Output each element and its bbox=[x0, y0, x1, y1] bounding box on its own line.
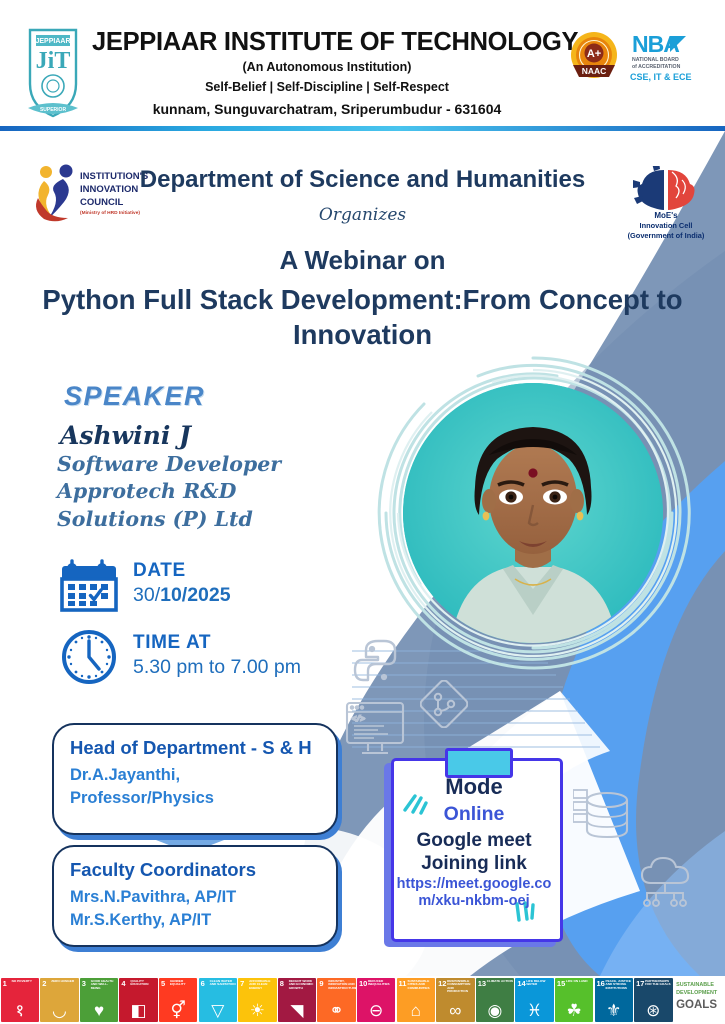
speaker-role-line2: Approtech R&D bbox=[57, 478, 281, 505]
sdg-goal-text: DECENT WORK AND ECONOMIC GROWTH bbox=[289, 980, 315, 990]
sdg-goal-number: 2 bbox=[42, 979, 46, 988]
svg-text:JEPPIAAR: JEPPIAAR bbox=[35, 38, 70, 45]
webinar-poster: JEPPIAAR JiT SUPERIOR JEPPIAAR INSTITUTE… bbox=[0, 0, 725, 1024]
sdg-logo-line1: SUSTAINABLE bbox=[676, 982, 714, 988]
sdg-goal-glyph-icon: ☘ bbox=[555, 1002, 593, 1019]
sdg-goal-number: 13 bbox=[478, 979, 486, 988]
date-value: 30/10/2025 bbox=[133, 583, 231, 608]
sdg-goal-number: 17 bbox=[636, 979, 644, 988]
time-label: TIME AT bbox=[133, 632, 301, 654]
git-branch-icon bbox=[420, 680, 468, 728]
sdg-goal-text: GENDER EQUALITY bbox=[170, 980, 196, 987]
sdg-goal-text: CLIMATE ACTION bbox=[487, 980, 513, 983]
sdg-goal-text: LIFE BELOW WATER bbox=[526, 980, 552, 987]
database-icon bbox=[573, 786, 635, 844]
mode-heading: Mode bbox=[391, 774, 557, 800]
clock-icon bbox=[58, 625, 120, 687]
sdg-goal-text: ZERO HUNGER bbox=[51, 980, 77, 983]
calendar-icon bbox=[58, 553, 120, 615]
sdg-goal-9: 9INDUSTRY, INNOVATION AND INFRASTRUCTURE… bbox=[317, 978, 355, 1022]
sdg-logo: SUSTAINABLE DEVELOPMENT GOALS bbox=[674, 978, 724, 1022]
hod-title: Head of Department - S & H bbox=[70, 737, 336, 759]
sdg-goal-13: 13CLIMATE ACTION◉ bbox=[476, 978, 514, 1022]
webinar-on-label: A Webinar on bbox=[0, 245, 725, 276]
sdg-goal-3: 3GOOD HEALTH AND WELL-BEING♥ bbox=[80, 978, 118, 1022]
webinar-topic-line1: Python Full Stack Development:From Conce… bbox=[42, 284, 682, 315]
sdg-goal-11: 11SUSTAINABLE CITIES AND COMMUNITIES⌂ bbox=[397, 978, 435, 1022]
sdg-goal-glyph-icon: ◉ bbox=[476, 1002, 514, 1019]
sdg-goal-text: CLEAN WATER AND SANITATION bbox=[210, 980, 236, 987]
python-logo-icon bbox=[352, 637, 404, 689]
sdg-goal-8: 8DECENT WORK AND ECONOMIC GROWTH◥ bbox=[278, 978, 316, 1022]
sdg-goal-7: 7AFFORDABLE AND CLEAN ENERGY☀ bbox=[238, 978, 276, 1022]
sdg-goal-number: 1 bbox=[3, 979, 7, 988]
svg-text:SUPERIOR: SUPERIOR bbox=[40, 107, 67, 113]
sdg-goal-text: PEACE, JUSTICE AND STRONG INSTITUTIONS bbox=[606, 980, 632, 990]
time-row: TIME AT 5.30 pm to 7.00 pm bbox=[58, 625, 301, 687]
joining-link-label-line1: Google meet bbox=[391, 830, 557, 853]
sdg-goal-number: 8 bbox=[280, 979, 284, 988]
sdg-goal-number: 5 bbox=[161, 979, 165, 988]
schedule-block: DATE 30/10/2025 TIME A bbox=[58, 553, 301, 697]
svg-text:(Government of India): (Government of India) bbox=[628, 231, 705, 240]
date-label: DATE bbox=[133, 560, 231, 582]
institute-motto: Self-Belief | Self-Discipline | Self-Res… bbox=[92, 80, 562, 94]
faculty-card: Faculty Coordinators Mrs.N.Pavithra, AP/… bbox=[52, 845, 338, 947]
date-day: 30/ bbox=[133, 584, 160, 606]
sdg-goal-glyph-icon: ⚭ bbox=[317, 1002, 355, 1019]
sdg-goal-glyph-icon: ♥ bbox=[80, 1002, 118, 1019]
sdg-goal-glyph-icon: ⊛ bbox=[634, 1002, 672, 1019]
sdg-logo-line3: GOALS bbox=[676, 999, 717, 1011]
speaker-role-line3: Solutions (P) Ltd bbox=[57, 506, 281, 533]
sdg-goal-text: INDUSTRY, INNOVATION AND INFRASTRUCTURE bbox=[328, 980, 354, 990]
sdg-goal-10: 10REDUCED INEQUALITIES⊖ bbox=[357, 978, 395, 1022]
date-row: DATE 30/10/2025 bbox=[58, 553, 301, 615]
speaker-affiliation: Software Developer Approtech R&D Solutio… bbox=[57, 451, 281, 533]
institute-address: kunnam, Sunguvarchatram, Sriperumbudur -… bbox=[92, 101, 562, 117]
sdg-goal-16: 16PEACE, JUSTICE AND STRONG INSTITUTIONS… bbox=[595, 978, 633, 1022]
sdg-goal-number: 7 bbox=[240, 979, 244, 988]
poster-header: JEPPIAAR JiT SUPERIOR JEPPIAAR INSTITUTE… bbox=[0, 0, 725, 128]
sdg-goal-number: 16 bbox=[597, 979, 605, 988]
svg-text:</>: </> bbox=[352, 716, 365, 724]
institute-autonomous: (An Autonomous Institution) bbox=[92, 60, 562, 74]
time-value: 5.30 pm to 7.00 pm bbox=[133, 655, 301, 680]
sdg-goal-glyph-icon: ☀ bbox=[238, 1002, 276, 1019]
sdg-goal-number: 10 bbox=[359, 979, 367, 988]
sdg-goal-number: 9 bbox=[319, 979, 323, 988]
hod-designation: Professor/Physics bbox=[70, 788, 336, 809]
speaker-photo bbox=[403, 383, 663, 643]
svg-text:of ACCREDITATION: of ACCREDITATION bbox=[632, 64, 681, 70]
joining-link-label-line2: Joining link bbox=[391, 853, 557, 876]
speaker-role-line1: Software Developer bbox=[57, 451, 281, 478]
faculty-title: Faculty Coordinators bbox=[70, 859, 336, 881]
faculty-coordinator-2: Mr.S.Kerthy, AP/IT bbox=[70, 910, 336, 931]
sdg-goal-text: SUSTAINABLE CITIES AND COMMUNITIES bbox=[408, 980, 434, 990]
sdg-goal-text: LIFE ON LAND bbox=[566, 980, 592, 983]
sdg-goal-12: 12RESPONSIBLE CONSUMPTION AND PRODUCTION… bbox=[436, 978, 474, 1022]
sdg-goal-glyph-icon: ⊖ bbox=[357, 1002, 395, 1019]
speaker-portrait bbox=[372, 352, 694, 674]
sdg-goal-glyph-icon: ▽ bbox=[199, 1002, 237, 1019]
svg-text:A+: A+ bbox=[587, 48, 601, 60]
sdg-goal-number: 14 bbox=[517, 979, 525, 988]
sdg-goal-number: 3 bbox=[82, 979, 86, 988]
sdg-goal-15: 15LIFE ON LAND☘ bbox=[555, 978, 593, 1022]
svg-text:CSE, IT & ECE: CSE, IT & ECE bbox=[630, 72, 692, 82]
sdg-goal-text: AFFORDABLE AND CLEAN ENERGY bbox=[249, 980, 275, 990]
sdg-goal-glyph-icon: ⌂ bbox=[397, 1002, 435, 1019]
mode-clipboard: Mode Online Google meet Joining link htt… bbox=[387, 748, 563, 938]
sdg-goal-number: 12 bbox=[438, 979, 446, 988]
sdg-goal-text: REDUCED INEQUALITIES bbox=[368, 980, 394, 987]
sdg-goal-4: 4QUALITY EDUCATION◧ bbox=[119, 978, 157, 1022]
sdg-goal-glyph-icon: ◥ bbox=[278, 1002, 316, 1019]
sdg-goal-text: GOOD HEALTH AND WELL-BEING bbox=[91, 980, 117, 990]
mode-value: Online bbox=[391, 803, 557, 826]
date-rest: 10/2025 bbox=[160, 584, 231, 606]
sdg-goal-glyph-icon: ◧ bbox=[119, 1002, 157, 1019]
speaker-name: Ashwini J bbox=[60, 421, 191, 450]
department-title: Department of Science and Humanities bbox=[0, 166, 725, 194]
sdg-goal-number: 6 bbox=[201, 979, 205, 988]
webinar-topic: Python Full Stack Development:From Conce… bbox=[22, 282, 703, 352]
sdg-goal-6: 6CLEAN WATER AND SANITATION▽ bbox=[199, 978, 237, 1022]
sdg-goal-text: PARTNERSHIPS FOR THE GOALS bbox=[645, 980, 671, 987]
sdg-goal-glyph-icon: ∞ bbox=[436, 1002, 474, 1019]
svg-text:NAAC: NAAC bbox=[582, 66, 607, 76]
sdg-goal-14: 14LIFE BELOW WATER♓ bbox=[515, 978, 553, 1022]
naac-badge-icon: A+ NAAC bbox=[568, 31, 620, 83]
sdg-logo-line2: DEVELOPMENT bbox=[676, 990, 717, 996]
nba-logo-icon: NBA NATIONAL BOARD of ACCREDITATION CSE,… bbox=[630, 30, 708, 86]
joining-link-label: Google meet Joining link bbox=[391, 830, 557, 876]
svg-text:NATIONAL BOARD: NATIONAL BOARD bbox=[632, 57, 679, 63]
google-meet-link[interactable]: https://meet.google.com/xku-nkbm-oej bbox=[395, 876, 553, 910]
sdg-goal-2: 2ZERO HUNGER◡ bbox=[40, 978, 78, 1022]
sdg-goal-number: 15 bbox=[557, 979, 565, 988]
sdg-goal-1: 1NO POVERTY१ bbox=[1, 978, 39, 1022]
cloud-computing-icon bbox=[635, 853, 697, 909]
institute-name: JEPPIAAR INSTITUTE OF TECHNOLOGY bbox=[92, 28, 562, 57]
hod-name: Dr.A.Jayanthi, bbox=[70, 765, 336, 786]
sdg-footer: 1NO POVERTY१2ZERO HUNGER◡3GOOD HEALTH AN… bbox=[0, 976, 725, 1024]
sdg-goal-glyph-icon: ◡ bbox=[40, 1002, 78, 1019]
sdg-goal-17: 17PARTNERSHIPS FOR THE GOALS⊛ bbox=[634, 978, 672, 1022]
sdg-goal-glyph-icon: ♓ bbox=[515, 1002, 553, 1019]
jit-logo-icon: JEPPIAAR JiT SUPERIOR bbox=[22, 22, 84, 122]
svg-text:JiT: JiT bbox=[36, 48, 71, 74]
sdg-goal-glyph-icon: १ bbox=[1, 1002, 39, 1019]
sdg-goal-number: 11 bbox=[399, 979, 407, 988]
sdg-goal-text: QUALITY EDUCATION bbox=[130, 980, 156, 987]
sdg-goal-text: RESPONSIBLE CONSUMPTION AND PRODUCTION bbox=[447, 980, 473, 994]
sdg-goal-number: 4 bbox=[121, 979, 125, 988]
organizes-label: Organizes bbox=[0, 205, 725, 225]
speaker-heading: SPEAKER bbox=[64, 381, 205, 412]
sdg-goal-glyph-icon: ⚥ bbox=[159, 1002, 197, 1019]
faculty-coordinator-1: Mrs.N.Pavithra, AP/IT bbox=[70, 887, 336, 908]
hod-card: Head of Department - S & H Dr.A.Jayanthi… bbox=[52, 723, 338, 835]
sdg-goal-5: 5GENDER EQUALITY⚥ bbox=[159, 978, 197, 1022]
sdg-goal-text: NO POVERTY bbox=[12, 980, 38, 983]
webinar-topic-line2: Innovation bbox=[293, 319, 432, 350]
sdg-goal-glyph-icon: ⚜ bbox=[595, 1002, 633, 1019]
